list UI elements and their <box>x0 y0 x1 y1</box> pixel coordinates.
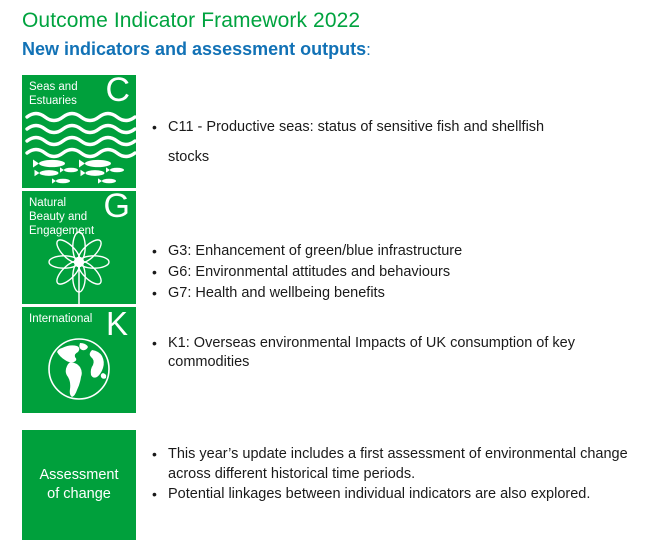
list-item: • G3: Enhancement of green/blue infrastr… <box>152 241 572 262</box>
list-item-text: G7: Health and wellbeing benefits <box>168 283 572 304</box>
indicator-letter-g: G <box>104 191 130 225</box>
heading-block: Outcome Indicator Framework 2022 New ind… <box>22 8 632 62</box>
bullet-list-assessment-of-change: • This year’s update includes a first as… <box>152 444 632 504</box>
indicator-box-label-line: Natural <box>29 196 94 210</box>
indicator-box-label-natural: Natural Beauty and Engagement <box>29 196 94 238</box>
bullet-marker-icon: • <box>152 444 168 464</box>
bullet-list-natural-beauty: • G3: Enhancement of green/blue infrastr… <box>152 241 572 304</box>
list-item: • G6: Environmental attitudes and behavi… <box>152 262 572 283</box>
indicator-box-label-line: Seas and <box>29 80 78 94</box>
bullet-marker-icon: • <box>152 283 168 304</box>
bullet-marker-icon: • <box>152 112 168 142</box>
assessment-label-line: of change <box>47 485 111 504</box>
bullet-list-international: • K1: Overseas environmental Impacts of … <box>152 334 612 372</box>
list-item: • Potential linkages between individual … <box>152 484 632 504</box>
list-item-text: G6: Environmental attitudes and behaviou… <box>168 262 572 283</box>
list-item-text: This year’s update includes a first asse… <box>168 444 632 484</box>
list-item: • G7: Health and wellbeing benefits <box>152 283 572 304</box>
list-item: • This year’s update includes a first as… <box>152 444 632 484</box>
page-title: Outcome Indicator Framework 2022 <box>22 8 632 34</box>
indicator-box-seas-and-estuaries: Seas and Estuaries C <box>22 75 136 188</box>
bullet-marker-icon: • <box>152 241 168 262</box>
list-item-text: C11 - Productive seas: status of sensiti… <box>168 112 572 172</box>
indicator-box-label-seas: Seas and Estuaries <box>29 80 78 108</box>
indicator-box-label-line: Beauty and <box>29 210 94 224</box>
page-subtitle: New indicators and assessment outputs: <box>22 37 632 62</box>
assessment-of-change-label: Assessment of change <box>22 430 136 540</box>
list-item-text: Potential linkages between individual in… <box>168 484 632 504</box>
indicator-box-international: International K <box>22 307 136 413</box>
indicator-box-label-line: International <box>29 312 92 326</box>
page-subtitle-text: New indicators and assessment outputs <box>22 39 366 59</box>
indicator-box-assessment-of-change: Assessment of change <box>22 430 136 540</box>
bullet-marker-icon: • <box>152 334 168 353</box>
list-item: • K1: Overseas environmental Impacts of … <box>152 334 612 372</box>
list-item-text: G3: Enhancement of green/blue infrastruc… <box>168 241 572 262</box>
indicator-box-natural-beauty-and-engagement: Natural Beauty and Engagement G <box>22 191 136 304</box>
indicator-box-label-line: Estuaries <box>29 94 78 108</box>
bullet-marker-icon: • <box>152 262 168 283</box>
indicator-box-label-international: International <box>29 312 92 326</box>
list-item: • C11 - Productive seas: status of sensi… <box>152 112 572 172</box>
assessment-label-line: Assessment <box>40 466 119 485</box>
bullet-list-seas: • C11 - Productive seas: status of sensi… <box>152 112 572 172</box>
list-item-text: K1: Overseas environmental Impacts of UK… <box>168 334 612 372</box>
indicator-box-label-line: Engagement <box>29 224 94 238</box>
page-subtitle-punctuation: : <box>366 40 371 59</box>
indicator-letter-k: K <box>106 307 128 343</box>
indicator-letter-c: C <box>105 75 130 109</box>
bullet-marker-icon: • <box>152 484 168 504</box>
